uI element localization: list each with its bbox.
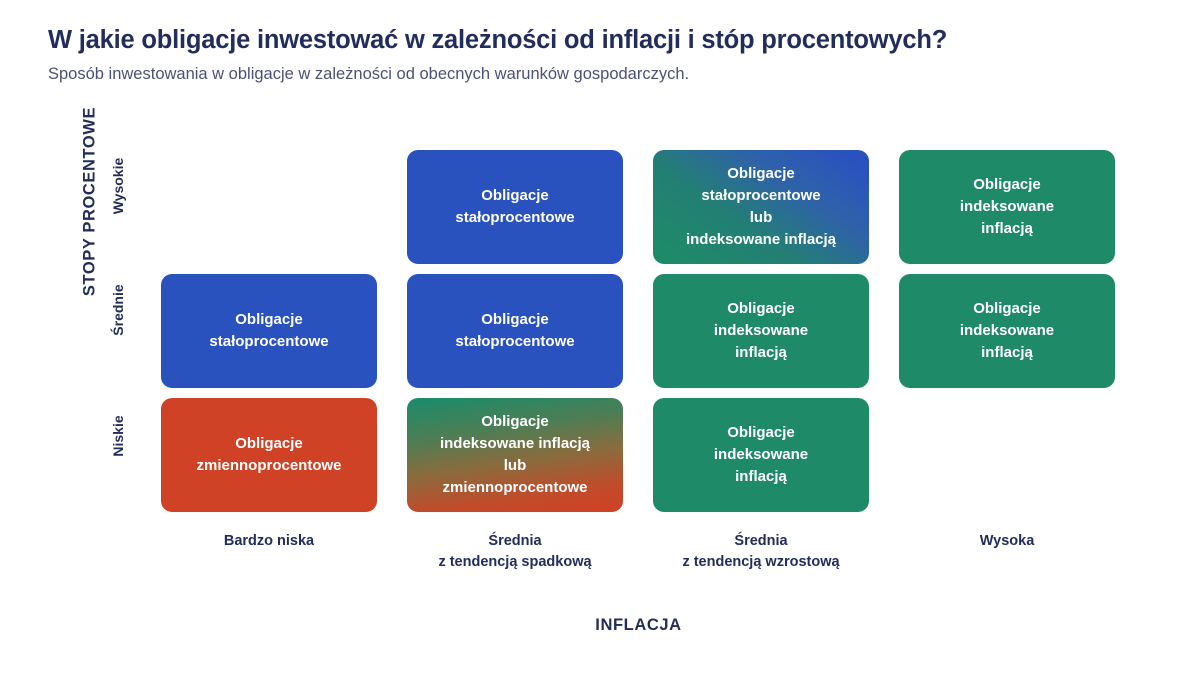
cell-text-line: indeksowane	[960, 320, 1054, 342]
cell-text-line: stałoprocentowe	[455, 207, 574, 229]
y-tick-label-niskie: Niskie	[110, 381, 126, 491]
cell-text-line: Obligacje	[455, 309, 574, 331]
matrix-cell-wysokie-bardzo-niska	[161, 150, 377, 264]
matrix-cell-niskie-srednia-spadkowa[interactable]: Obligacje indeksowane inflacją lub zmien…	[407, 398, 623, 512]
cell-text: Obligacje zmiennoprocentowe	[196, 433, 341, 477]
y-tick-label-wysokie: Wysokie	[110, 131, 126, 241]
x-tick-line: Średnia	[488, 533, 541, 549]
y-tick-label-srednie: Średnie	[110, 255, 126, 365]
cell-text-line: Obligacje	[440, 411, 590, 433]
matrix-cell-srednie-wysoka[interactable]: Obligacje indeksowane inflacją	[899, 274, 1115, 388]
x-axis-tick-labels: Bardzo niska Średnia z tendencją spadkow…	[161, 531, 1116, 572]
cell-text-line: Obligacje	[960, 298, 1054, 320]
cell-text-line: indeksowane	[960, 196, 1054, 218]
x-tick-line: z tendencją spadkową	[438, 554, 591, 570]
x-tick-label-wysoka: Wysoka	[899, 531, 1115, 572]
cell-text-line: zmiennoprocentowe	[196, 455, 341, 477]
x-tick-label-srednia-spadkowa: Średnia z tendencją spadkową	[407, 531, 623, 572]
cell-text-line: inflacją	[714, 466, 808, 488]
cell-text: Obligacje indeksowane inflacją	[714, 298, 808, 365]
cell-text-line: lub	[686, 207, 836, 229]
matrix-grid: Obligacje stałoprocentowe Obligacje stał…	[161, 150, 1116, 516]
cell-text: Obligacje stałoprocentowe lub indeksowan…	[686, 163, 836, 252]
cell-text: Obligacje stałoprocentowe	[455, 185, 574, 229]
matrix-chart: STOPY PROCENTOWE Wysokie Średnie Niskie …	[0, 0, 1200, 675]
cell-text-line: Obligacje	[714, 298, 808, 320]
y-axis-title: STOPY PROCENTOWE	[81, 42, 100, 362]
cell-text: Obligacje stałoprocentowe	[209, 309, 328, 353]
cell-text-line: stałoprocentowe	[209, 331, 328, 353]
cell-text-line: indeksowane inflacją	[686, 229, 836, 251]
cell-text-line: stałoprocentowe	[455, 331, 574, 353]
cell-text-line: stałoprocentowe	[686, 185, 836, 207]
cell-text-line: zmiennoprocentowe	[440, 477, 590, 499]
cell-text: Obligacje indeksowane inflacją	[714, 422, 808, 489]
cell-text-line: Obligacje	[686, 163, 836, 185]
cell-text-line: Obligacje	[209, 309, 328, 331]
x-tick-label-srednia-wzrostowa: Średnia z tendencją wzrostową	[653, 531, 869, 572]
cell-text: Obligacje indeksowane inflacją	[960, 174, 1054, 241]
matrix-cell-niskie-wysoka	[899, 398, 1115, 512]
matrix-cell-srednie-srednia-wzrostowa[interactable]: Obligacje indeksowane inflacją	[653, 274, 869, 388]
cell-text: Obligacje indeksowane inflacją	[960, 298, 1054, 365]
cell-text-line: indeksowane	[714, 320, 808, 342]
matrix-cell-srednie-srednia-spadkowa[interactable]: Obligacje stałoprocentowe	[407, 274, 623, 388]
matrix-cell-srednie-bardzo-niska[interactable]: Obligacje stałoprocentowe	[161, 274, 377, 388]
x-tick-line: Wysoka	[980, 533, 1035, 549]
matrix-cell-niskie-srednia-wzrostowa[interactable]: Obligacje indeksowane inflacją	[653, 398, 869, 512]
cell-text-line: inflacją	[960, 218, 1054, 240]
cell-text: Obligacje indeksowane inflacją lub zmien…	[440, 411, 590, 500]
cell-text-line: Obligacje	[714, 422, 808, 444]
cell-text-line: Obligacje	[960, 174, 1054, 196]
matrix-cell-wysokie-wysoka[interactable]: Obligacje indeksowane inflacją	[899, 150, 1115, 264]
cell-text-line: inflacją	[714, 342, 808, 364]
cell-text-line: Obligacje	[455, 185, 574, 207]
cell-text-line: inflacją	[960, 342, 1054, 364]
cell-text-line: lub	[440, 455, 590, 477]
matrix-cell-niskie-bardzo-niska[interactable]: Obligacje zmiennoprocentowe	[161, 398, 377, 512]
x-tick-label-bardzo-niska: Bardzo niska	[161, 531, 377, 572]
x-tick-line: z tendencją wzrostową	[682, 554, 839, 570]
x-tick-line: Bardzo niska	[224, 533, 314, 549]
matrix-cell-wysokie-srednia-wzrostowa[interactable]: Obligacje stałoprocentowe lub indeksowan…	[653, 150, 869, 264]
x-axis-title: INFLACJA	[161, 616, 1116, 635]
cell-text: Obligacje stałoprocentowe	[455, 309, 574, 353]
matrix-cell-wysokie-srednia-spadkowa[interactable]: Obligacje stałoprocentowe	[407, 150, 623, 264]
x-tick-line: Średnia	[734, 533, 787, 549]
cell-text-line: Obligacje	[196, 433, 341, 455]
cell-text-line: indeksowane	[714, 444, 808, 466]
cell-text-line: indeksowane inflacją	[440, 433, 590, 455]
